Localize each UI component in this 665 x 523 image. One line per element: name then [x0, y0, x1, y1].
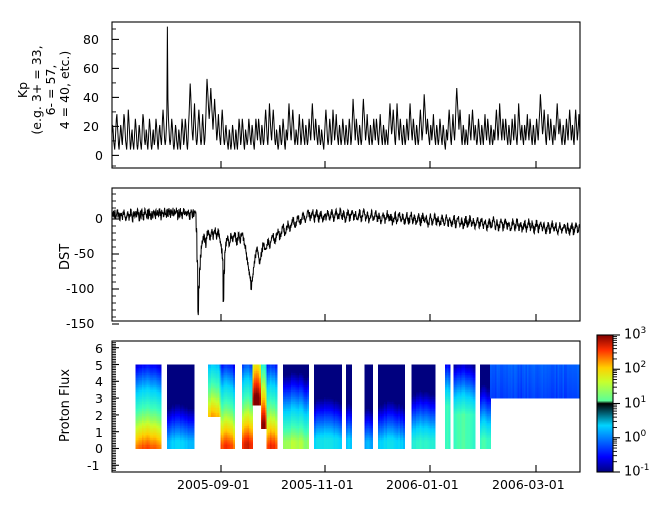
xtick-2006-01-01: 2006-01-01	[386, 477, 459, 492]
colorbar-tick-exponent: 3	[641, 326, 647, 336]
proton-flux-ytick-n1: -1	[87, 458, 99, 473]
colorbar-tick-base: 10	[624, 464, 641, 479]
kp-ytick-40: 40	[83, 90, 99, 105]
kp-data-trace-group	[112, 27, 580, 150]
kp-ytick-80: 80	[83, 32, 99, 47]
colorbar-tick-exponent: 2	[641, 360, 647, 370]
dst-x-ticks	[221, 314, 536, 321]
proton-flux-panel	[112, 341, 581, 472]
dst-panel	[112, 188, 581, 324]
kp-panel-frame	[112, 22, 580, 168]
colorbar-tick-1e2: 102	[624, 360, 646, 376]
kp-data-trace	[112, 27, 580, 150]
colorbar-ticks	[613, 335, 620, 472]
colorbar-tick-base: 10	[624, 362, 641, 377]
xtick-2005-11-01: 2005-11-01	[281, 477, 354, 492]
dst-ytick-0: 0	[95, 211, 103, 226]
proton-flux-y-ticks	[112, 341, 119, 472]
proton-flux-ytick-5: 5	[95, 358, 103, 373]
kp-ytick-60: 60	[83, 61, 99, 76]
kp-panel	[112, 22, 580, 168]
colorbar-tick-1e3: 103	[624, 326, 646, 342]
dst-ytick-n100: -100	[66, 281, 94, 296]
colorbar-tick-exponent: 0	[641, 429, 647, 439]
dst-data-trace	[112, 208, 581, 315]
kp-axis-title: Kp (e.g. 3+ = 33, 6- = 57, 4 = 40, etc.)	[16, 10, 72, 170]
colorbar-tick-1e0: 100	[624, 429, 646, 445]
proton-flux-heatmap	[135, 365, 580, 450]
colorbar-tick-base: 10	[624, 396, 641, 411]
kp-x-ticks	[221, 161, 536, 168]
colorbar-gradient	[597, 335, 613, 472]
colorbar-tick-base: 10	[624, 430, 641, 445]
proton-flux-axis-title: Proton Flux	[58, 369, 73, 442]
dst-ytick-n150: -150	[66, 316, 94, 331]
kp-axis-title-line4: 4 = 40, etc.)	[57, 51, 72, 130]
proton-flux-ytick-2: 2	[95, 408, 103, 423]
colorbar-tick-1e-1: 10-1	[624, 463, 650, 479]
dst-data-trace-group	[112, 208, 581, 315]
dst-panel-frame	[112, 188, 580, 321]
colorbar-tick-1e1: 101	[624, 395, 646, 411]
kp-axis-title-line2: (e.g. 3+ = 33,	[29, 45, 44, 134]
kp-axis-title-line1: Kp	[15, 82, 30, 98]
colorbar-tick-base: 10	[624, 327, 641, 342]
dst-axis-title: DST	[58, 244, 73, 270]
proton-flux-x-ticks	[221, 465, 536, 472]
figure-root: Kp (e.g. 3+ = 33, 6- = 57, 4 = 40, etc.)…	[0, 0, 665, 523]
colorbar-tick-exponent: -1	[641, 463, 650, 473]
xtick-2005-09-01: 2005-09-01	[177, 477, 250, 492]
kp-ytick-0: 0	[95, 148, 103, 163]
proton-flux-ytick-4: 4	[95, 374, 103, 389]
kp-axis-title-line3: 6- = 57,	[43, 65, 58, 116]
dst-ytick-n50: -50	[74, 246, 94, 261]
proton-flux-ytick-0: 0	[95, 441, 103, 456]
kp-y-ticks	[112, 29, 119, 166]
colorbar-tick-exponent: 1	[641, 395, 647, 405]
xtick-2006-03-01: 2006-03-01	[492, 477, 565, 492]
proton-flux-ytick-3: 3	[95, 391, 103, 406]
proton-flux-ytick-1: 1	[95, 425, 103, 440]
colorbar	[597, 335, 620, 472]
kp-ytick-20: 20	[83, 119, 99, 134]
proton-flux-ytick-6: 6	[95, 341, 103, 356]
